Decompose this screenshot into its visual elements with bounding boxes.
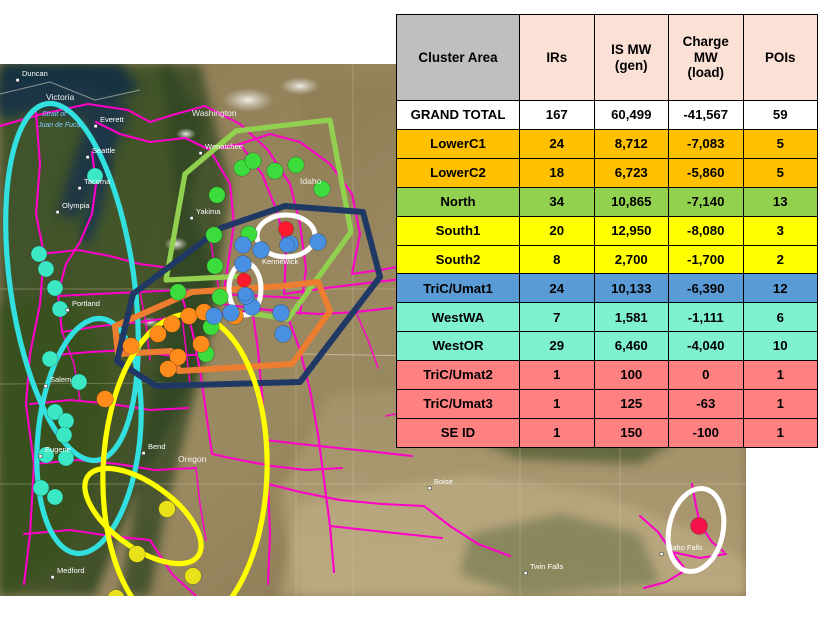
cell-pois: 1 [743, 418, 818, 447]
cell-charge-mw: -63 [669, 390, 744, 419]
cell-charge-mw: -100 [669, 418, 744, 447]
cell-pois: 5 [743, 158, 818, 187]
cell-cluster-area: WestWA [397, 303, 520, 332]
table-row[interactable]: SE ID1150-1001 [397, 418, 818, 447]
svg-text:Duncan: Duncan [22, 69, 48, 78]
svg-text:Everett: Everett [100, 115, 125, 124]
svg-text:Portland: Portland [72, 299, 100, 308]
header-cluster-area[interactable]: Cluster Area [397, 15, 520, 101]
cell-pois: 2 [743, 245, 818, 274]
cell-is-mw: 2,700 [594, 245, 669, 274]
svg-text:Yakima: Yakima [196, 207, 221, 216]
cell-pois: 12 [743, 274, 818, 303]
svg-text:Washington: Washington [192, 108, 237, 118]
cell-pois: 1 [743, 390, 818, 419]
header-charge-mw[interactable]: Charge MW (load) [669, 15, 744, 101]
table-header: Cluster Area IRs IS MW (gen) Charge MW (… [397, 15, 818, 101]
svg-text:Strait of: Strait of [42, 111, 67, 118]
cell-irs: 24 [520, 129, 595, 158]
svg-text:Victoria: Victoria [46, 92, 74, 102]
table-row[interactable]: TriC/Umat31125-631 [397, 390, 818, 419]
cell-charge-mw: -5,860 [669, 158, 744, 187]
header-charge-line3: (load) [671, 65, 741, 81]
svg-text:Boise: Boise [434, 477, 453, 486]
cell-irs: 34 [520, 187, 595, 216]
cell-pois: 13 [743, 187, 818, 216]
cell-is-mw: 6,460 [594, 332, 669, 361]
svg-text:Juan de Fuca: Juan de Fuca [37, 122, 81, 129]
cell-charge-mw: -41,567 [669, 101, 744, 130]
point-tric-umat2-blue [280, 238, 295, 253]
cell-irs: 24 [520, 274, 595, 303]
cell-is-mw: 10,133 [594, 274, 669, 303]
cell-charge-mw: 0 [669, 361, 744, 390]
cell-cluster-area: TriC/Umat3 [397, 390, 520, 419]
cell-cluster-area: TriC/Umat1 [397, 274, 520, 303]
header-irs[interactable]: IRs [520, 15, 595, 101]
header-charge-line1: Charge [671, 34, 741, 50]
svg-text:Twin Falls: Twin Falls [530, 562, 564, 571]
table-row[interactable]: LowerC1248,712-7,0835 [397, 129, 818, 158]
cell-irs: 7 [520, 303, 595, 332]
cell-irs: 1 [520, 390, 595, 419]
cell-is-mw: 150 [594, 418, 669, 447]
cell-pois: 10 [743, 332, 818, 361]
cell-cluster-area: South1 [397, 216, 520, 245]
svg-text:Seattle: Seattle [92, 146, 115, 155]
header-is-mw-line2: (gen) [597, 58, 667, 74]
cell-irs: 167 [520, 101, 595, 130]
cell-pois: 6 [743, 303, 818, 332]
cell-cluster-area: SE ID [397, 418, 520, 447]
cell-charge-mw: -4,040 [669, 332, 744, 361]
cell-charge-mw: -7,083 [669, 129, 744, 158]
cell-is-mw: 1,581 [594, 303, 669, 332]
cell-irs: 29 [520, 332, 595, 361]
cell-charge-mw: -1,700 [669, 245, 744, 274]
header-is-mw-line1: IS MW [597, 42, 667, 58]
cell-is-mw: 10,865 [594, 187, 669, 216]
table-body: GRAND TOTAL16760,499-41,56759LowerC1248,… [397, 101, 818, 448]
table-row[interactable]: TriC/Umat2110001 [397, 361, 818, 390]
cluster-summary-table[interactable]: Cluster Area IRs IS MW (gen) Charge MW (… [396, 14, 818, 448]
svg-text:Wenatchee: Wenatchee [205, 142, 243, 151]
svg-text:Salem: Salem [50, 375, 71, 384]
cell-is-mw: 6,723 [594, 158, 669, 187]
svg-text:Olympia: Olympia [62, 201, 90, 210]
cell-irs: 1 [520, 361, 595, 390]
cell-charge-mw: -7,140 [669, 187, 744, 216]
cluster-summary-table-panel[interactable]: Cluster Area IRs IS MW (gen) Charge MW (… [396, 14, 818, 448]
cell-is-mw: 100 [594, 361, 669, 390]
cell-pois: 5 [743, 129, 818, 158]
cell-charge-mw: -8,080 [669, 216, 744, 245]
svg-text:Kennewick: Kennewick [262, 257, 299, 266]
cell-pois: 1 [743, 361, 818, 390]
table-row[interactable]: GRAND TOTAL16760,499-41,56759 [397, 101, 818, 130]
point-tric-umat3-blue [238, 287, 252, 301]
table-row[interactable]: LowerC2186,723-5,8605 [397, 158, 818, 187]
table-row[interactable]: South12012,950-8,0803 [397, 216, 818, 245]
cell-is-mw: 60,499 [594, 101, 669, 130]
table-row[interactable]: North3410,865-7,14013 [397, 187, 818, 216]
header-is-mw[interactable]: IS MW (gen) [594, 15, 669, 101]
table-row[interactable]: WestWA71,581-1,1116 [397, 303, 818, 332]
cell-irs: 1 [520, 418, 595, 447]
table-row[interactable]: South282,700-1,7002 [397, 245, 818, 274]
svg-text:Eugene: Eugene [45, 445, 71, 454]
cell-cluster-area: North [397, 187, 520, 216]
svg-text:Idaho: Idaho [300, 176, 322, 186]
svg-text:Idaho Falls: Idaho Falls [666, 543, 703, 552]
header-charge-line2: MW [671, 50, 741, 66]
point-tric-umat2-red [279, 222, 294, 237]
cell-charge-mw: -1,111 [669, 303, 744, 332]
point-tric-umat3-red [237, 273, 251, 287]
cell-charge-mw: -6,390 [669, 274, 744, 303]
svg-text:Oregon: Oregon [178, 454, 207, 464]
svg-text:Tacoma: Tacoma [84, 177, 111, 186]
cell-is-mw: 8,712 [594, 129, 669, 158]
cell-cluster-area: TriC/Umat2 [397, 361, 520, 390]
cell-pois: 3 [743, 216, 818, 245]
point-se-id [691, 518, 708, 535]
cell-is-mw: 12,950 [594, 216, 669, 245]
cell-irs: 8 [520, 245, 595, 274]
cell-cluster-area: LowerC2 [397, 158, 520, 187]
cell-cluster-area: South2 [397, 245, 520, 274]
table-row[interactable]: WestOR296,460-4,04010 [397, 332, 818, 361]
svg-text:Bend: Bend [148, 442, 166, 451]
cell-cluster-area: LowerC1 [397, 129, 520, 158]
cell-cluster-area: WestOR [397, 332, 520, 361]
cell-cluster-area: GRAND TOTAL [397, 101, 520, 130]
table-row[interactable]: TriC/Umat12410,133-6,39012 [397, 274, 818, 303]
screenshot-canvas: Duncan Everett Seattle Tacoma Olympia We… [0, 0, 826, 620]
header-pois[interactable]: POIs [743, 15, 818, 101]
cell-irs: 20 [520, 216, 595, 245]
cell-pois: 59 [743, 101, 818, 130]
cell-is-mw: 125 [594, 390, 669, 419]
cell-irs: 18 [520, 158, 595, 187]
table-header-row: Cluster Area IRs IS MW (gen) Charge MW (… [397, 15, 818, 101]
svg-text:Medford: Medford [57, 566, 85, 575]
